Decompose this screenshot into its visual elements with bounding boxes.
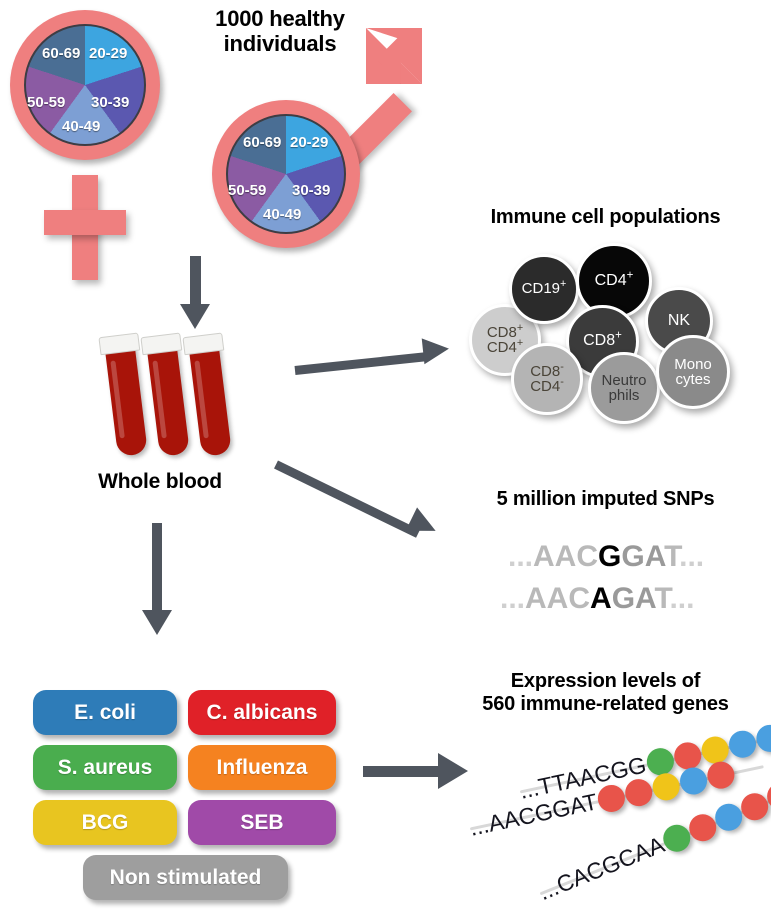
snp-prefix: AAC	[525, 582, 590, 615]
cell-label: CD8-CD4-	[530, 364, 564, 395]
stimulus-bcg[interactable]: BCG	[33, 800, 177, 845]
male-slice-label-30-39: 30-39	[292, 182, 330, 199]
blood-tube	[147, 344, 190, 457]
snp-suffix-tail: T	[664, 540, 679, 573]
figure-canvas: 1000 healthy individuals 60-69 20-29 30-…	[0, 0, 771, 922]
dna-bead	[623, 777, 655, 809]
snp-suffix: GA	[621, 540, 664, 573]
blood-tube	[105, 344, 148, 457]
snp-sequence-row: ...AACGGAT...	[508, 540, 704, 574]
snp-suffix: GA	[612, 582, 655, 615]
dna-sequence-text: ...CACGCAA	[535, 831, 668, 906]
female-slice-label-40-49: 40-49	[62, 118, 100, 135]
cell-label: CD4+	[595, 273, 634, 289]
stimulus-influenza[interactable]: Influenza	[188, 745, 336, 790]
dna-bead	[705, 759, 737, 791]
cell-neutrophils: Neutrophils	[588, 352, 660, 424]
cell-cd19pos: CD19+	[509, 254, 579, 324]
cell-cd8neg-cd4neg: CD8-CD4-	[511, 343, 583, 415]
male-slice-label-60-69: 60-69	[243, 134, 281, 151]
female-slice-label-50-59: 50-59	[27, 94, 65, 111]
snp-ellipsis-right: ...	[669, 582, 694, 615]
female-slice-label-30-39: 30-39	[91, 94, 129, 111]
cell-label: CD19+	[522, 281, 567, 296]
cell-label: Neutrophils	[601, 373, 646, 404]
dna-bead	[595, 782, 627, 814]
cell-label: Monocytes	[674, 357, 712, 388]
cell-monocytes: Monocytes	[656, 335, 730, 409]
snp-ellipsis-left: ...	[508, 540, 533, 573]
female-stem-cross	[44, 210, 126, 235]
dna-bead	[726, 728, 758, 760]
expression-title-line-2: 560 immune-related genes	[440, 693, 771, 716]
snp-variant-allele: A	[590, 582, 612, 615]
male-slice-label-50-59: 50-59	[228, 182, 266, 199]
whole-blood-label: Whole blood	[55, 470, 265, 494]
dna-bead	[754, 722, 771, 754]
snp-sequence-row: ...AACAGAT...	[500, 582, 694, 616]
immune-section-title: Immune cell populations	[440, 206, 771, 229]
stimulus-c-albicans[interactable]: C. albicans	[188, 690, 336, 735]
male-slice-label-20-29: 20-29	[290, 134, 328, 151]
snp-ellipsis-right: ...	[679, 540, 704, 573]
stimulus-e-coli[interactable]: E. coli	[33, 690, 177, 735]
stimulus-s-aureus[interactable]: S. aureus	[33, 745, 177, 790]
male-slice-label-40-49: 40-49	[263, 206, 301, 223]
snp-suffix-tail: T	[654, 582, 669, 615]
snp-ellipsis-left: ...	[500, 582, 525, 615]
page-title: 1000 healthy individuals	[160, 6, 400, 57]
cell-label: CD8+CD4+	[487, 325, 523, 356]
female-slice-label-20-29: 20-29	[89, 45, 127, 62]
dna-bead	[650, 771, 682, 803]
blood-tube	[189, 344, 232, 457]
snp-section-title: 5 million imputed SNPs	[440, 488, 771, 511]
expression-section-title: Expression levels of 560 immune-related …	[440, 670, 771, 716]
expression-title-line-1: Expression levels of	[440, 670, 771, 693]
cell-label: NK	[668, 313, 690, 329]
snp-variant-allele: G	[598, 540, 621, 573]
cell-label: CD8+	[583, 333, 622, 349]
female-slice-label-60-69: 60-69	[42, 45, 80, 62]
stimulus-seb[interactable]: SEB	[188, 800, 336, 845]
snp-prefix: AAC	[533, 540, 598, 573]
dna-bead	[677, 765, 709, 797]
stimulus-non-stimulated[interactable]: Non stimulated	[83, 855, 288, 900]
